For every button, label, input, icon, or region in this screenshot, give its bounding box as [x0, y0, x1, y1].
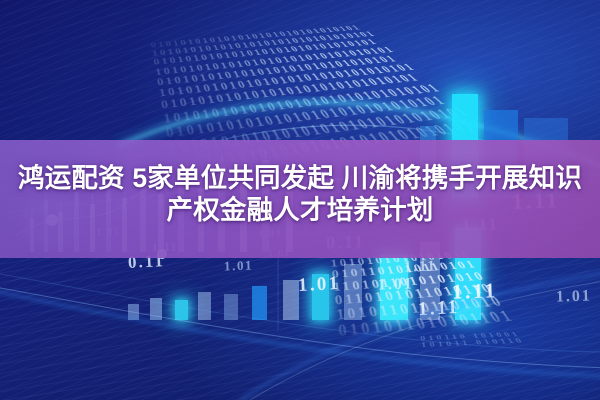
headline-line-2: 产权金融人才培养计划 [0, 194, 600, 226]
headline-line-1: 鸿运配资 5家单位共同发起 川渝将携手开展知识 [0, 162, 600, 194]
banner-image: 010101010101010101010101010101 101010101… [0, 0, 600, 400]
page-title: 鸿运配资 5家单位共同发起 川渝将携手开展知识 产权金融人才培养计划 [0, 162, 600, 226]
